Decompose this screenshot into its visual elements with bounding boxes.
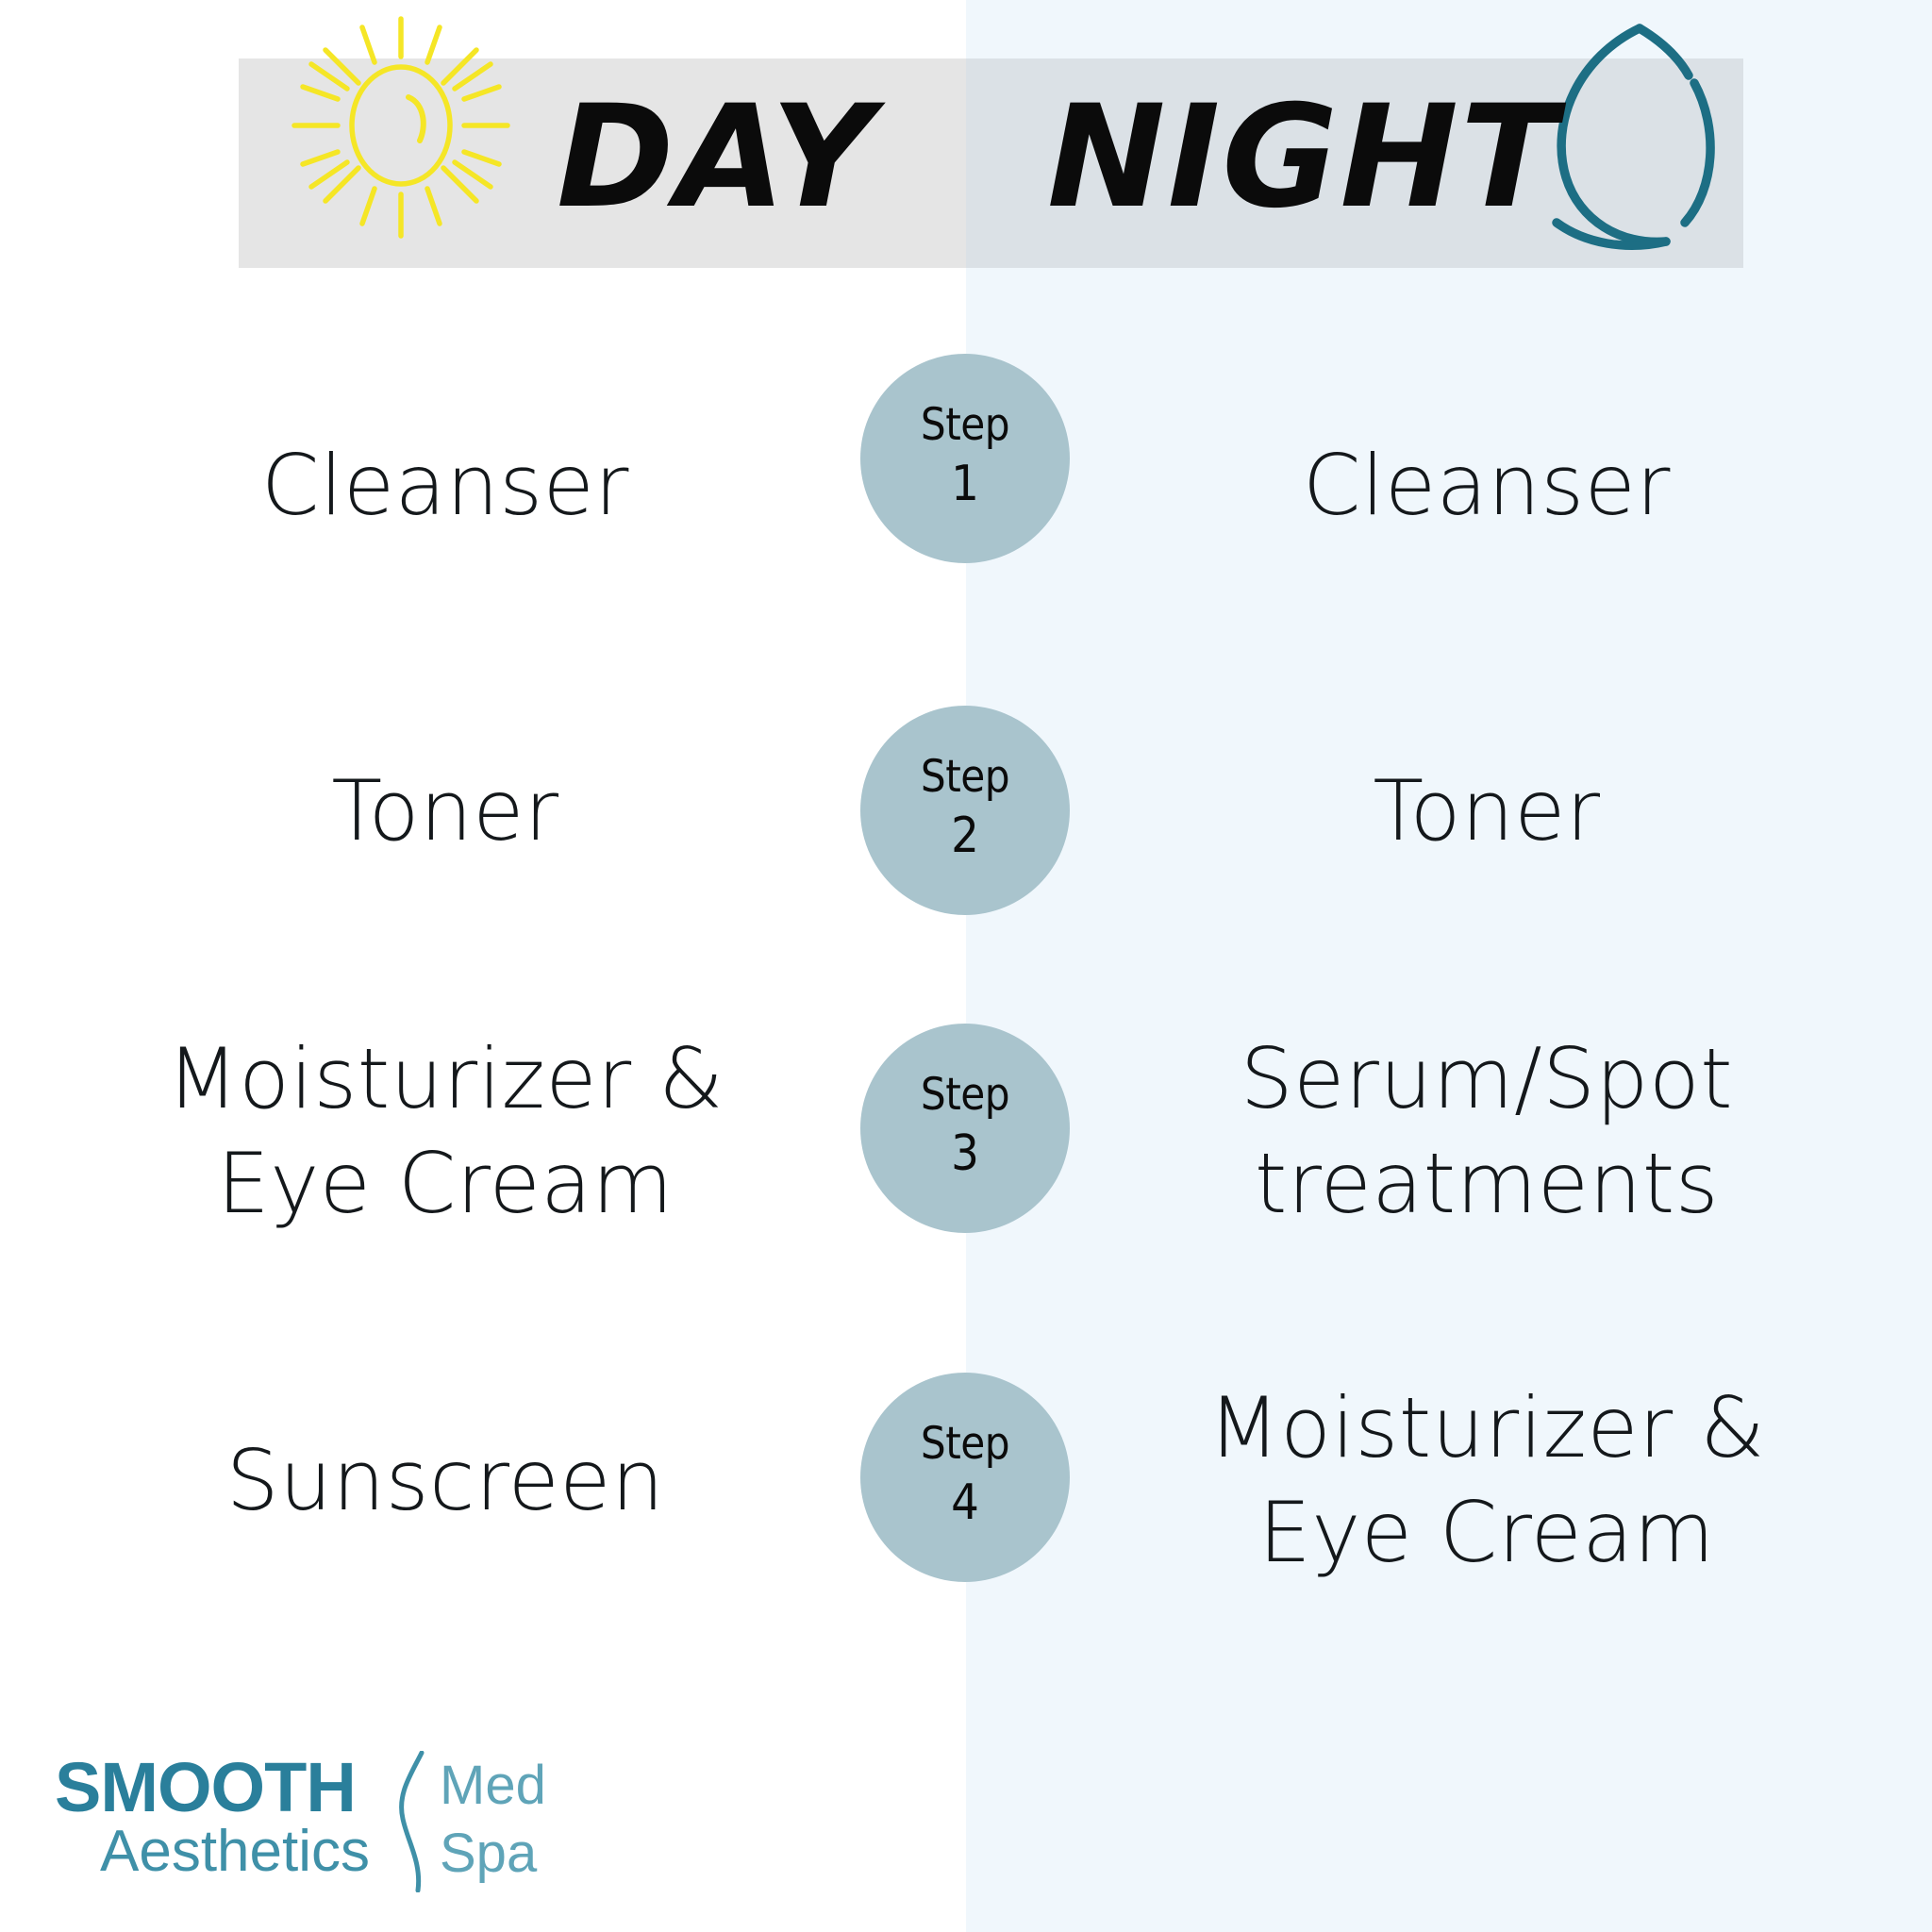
night-item-2-label: Toner (1373, 759, 1600, 864)
night-item-3-label: Serum/Spot treatments (1126, 1027, 1847, 1237)
night-background-panel (966, 0, 1932, 1932)
step-circle-2[interactable]: Step 2 (860, 706, 1070, 915)
step-circle-2-number: 2 (951, 806, 979, 867)
logo-brace-divider-icon (390, 1751, 435, 1892)
night-item-1-label: Cleanser (1303, 434, 1671, 539)
night-title: NIGHT (1047, 87, 1558, 228)
step-circle-3[interactable]: Step 3 (860, 1024, 1070, 1233)
logo-med-text: Med (440, 1758, 546, 1813)
step-circle-3-number: 3 (951, 1124, 979, 1185)
skincare-routine-infographic: DAY NIGHT Cleanser Cleanser Step 1 Toner… (0, 0, 1932, 1932)
day-item-4: Sunscreen (0, 1429, 966, 1534)
step-circle-1-number: 1 (951, 454, 979, 515)
day-item-4-label: Sunscreen (226, 1429, 664, 1534)
day-item-2-label: Toner (331, 759, 558, 864)
night-item-1: Cleanser (966, 434, 1932, 539)
night-item-3: Serum/Spot treatments (966, 1027, 1932, 1237)
day-item-1: Cleanser (0, 434, 966, 539)
sun-icon (283, 9, 519, 245)
day-title: DAY (557, 87, 875, 228)
night-item-4-label: Moisturizer & Eye Cream (1126, 1376, 1847, 1586)
brand-logo: SMOOTH Aesthetics Med Spa (55, 1753, 583, 1908)
night-item-2: Toner (966, 759, 1932, 864)
logo-spa-text: Spa (440, 1826, 537, 1881)
step-circle-4-label: Step (921, 1421, 1009, 1467)
day-background-panel (0, 0, 966, 1932)
step-circle-1[interactable]: Step 1 (860, 354, 1070, 563)
step-circle-4-number: 4 (951, 1473, 979, 1534)
step-circle-1-label: Step (921, 402, 1009, 448)
logo-aesthetics-text: Aesthetics (100, 1823, 370, 1881)
step-circle-4[interactable]: Step 4 (860, 1373, 1070, 1582)
day-item-2: Toner (0, 759, 966, 864)
night-item-4: Moisturizer & Eye Cream (966, 1376, 1932, 1586)
day-item-3: Moisturizer & Eye Cream (0, 1027, 966, 1237)
day-item-1-label: Cleanser (261, 434, 629, 539)
step-circle-3-label: Step (921, 1072, 1009, 1118)
step-circle-2-label: Step (921, 754, 1009, 800)
logo-smooth-text: SMOOTH (55, 1753, 356, 1823)
day-item-3-label: Moisturizer & Eye Cream (85, 1027, 806, 1237)
